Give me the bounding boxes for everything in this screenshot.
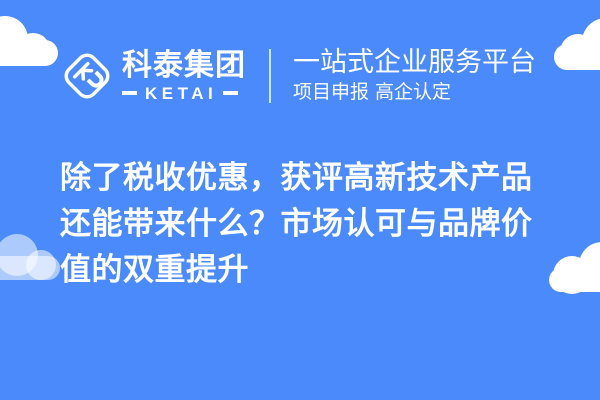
brand-name-en: KETAI <box>145 85 217 102</box>
brand-logo: 科泰集团 KETAI <box>58 47 246 105</box>
tagline-block: 一站式企业服务平台 项目申报 高企认定 <box>293 48 536 104</box>
brand-text: 科泰集团 KETAI <box>122 50 246 102</box>
header-divider <box>269 49 271 103</box>
brand-dash-left-icon <box>122 91 137 95</box>
brand-name-cn: 科泰集团 <box>122 50 246 82</box>
tagline-sub: 项目申报 高企认定 <box>293 82 536 104</box>
promo-banner: 科泰集团 KETAI 一站式企业服务平台 项目申报 高企认定 除了税收优惠，获评… <box>0 0 600 400</box>
ketai-diamond-monogram-logo-icon <box>58 47 116 105</box>
page-title: 除了税收优惠，获评高新技术产品还能带来什么？市场认可与品牌价值的双重提升 <box>60 155 560 293</box>
cloud-mid-left-icon <box>0 234 64 282</box>
brand-dash-right-icon <box>223 91 238 95</box>
tagline-main: 一站式企业服务平台 <box>293 48 536 78</box>
banner-header: 科泰集团 KETAI 一站式企业服务平台 项目申报 高企认定 <box>0 40 600 112</box>
brand-name-en-row: KETAI <box>122 85 246 102</box>
